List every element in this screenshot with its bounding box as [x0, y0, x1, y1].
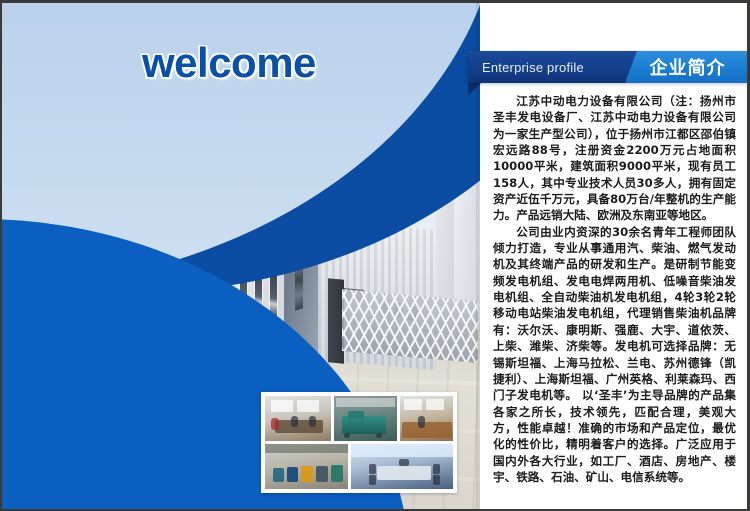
generator-workshop-photo — [334, 396, 396, 441]
section-title-english-block: Enterprise profile — [468, 51, 626, 83]
welcome-headline: welcome — [142, 39, 316, 87]
office-staff-photo — [400, 396, 453, 441]
hero-photo-panel: 江苏中动电力设备有限公司 Jiangsu Zhongdong Power Equ… — [2, 3, 480, 509]
profile-body: 江苏中动电力设备有限公司（注：扬州市圣丰发电设备厂、江苏中动电力设备有限公司为一… — [493, 93, 736, 485]
profile-paragraph-1: 江苏中动电力设备有限公司（注：扬州市圣丰发电设备厂、江苏中动电力设备有限公司为一… — [493, 93, 736, 224]
meeting-room-photo — [265, 396, 331, 441]
conference-room-photo — [351, 444, 453, 489]
facility-photo-collage — [261, 392, 457, 493]
banner-tail-notch — [468, 83, 481, 96]
section-header-banner: Enterprise profile 企业简介 — [468, 51, 749, 83]
retractable-gate — [342, 289, 478, 363]
profile-paragraph-2: 公司由业内资深的30余名青年工程师团队倾力打造，专业从事通用汽、柴油、燃气发动机… — [493, 224, 736, 486]
company-profile-page: 江苏中动电力设备有限公司 Jiangsu Zhongdong Power Equ… — [0, 0, 750, 511]
section-title-chinese: 企业简介 — [650, 54, 726, 80]
profile-text-panel: Enterprise profile 企业简介 江苏中动电力设备有限公司（注：扬… — [480, 3, 749, 509]
section-title-english: Enterprise profile — [482, 60, 584, 75]
section-title-chinese-block: 企业简介 — [626, 51, 749, 83]
generator-warehouse-photo — [265, 444, 348, 489]
